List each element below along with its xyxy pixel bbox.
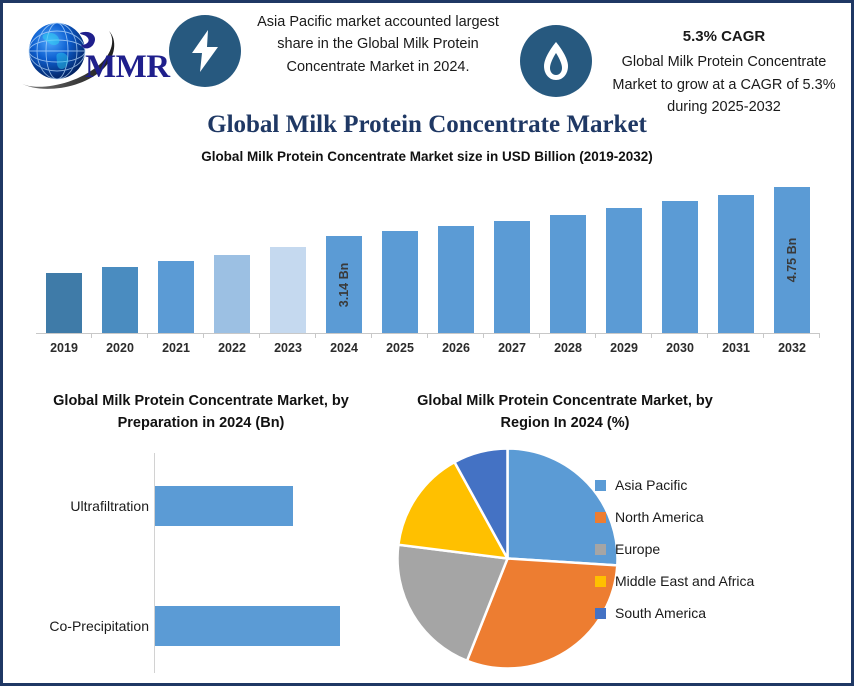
lightning-bolt-icon [188, 28, 222, 74]
legend-label: Middle East and Africa [615, 573, 754, 589]
axis-tick [36, 333, 92, 338]
legend-item: Europe [595, 533, 845, 565]
preparation-row: Ultrafiltration [11, 478, 391, 533]
bar [270, 247, 306, 333]
bar [214, 255, 250, 333]
x-axis-label: 2021 [148, 341, 204, 355]
bar-chart-title: Global Milk Protein Concentrate Market s… [3, 149, 851, 164]
x-axis-label: 2023 [260, 341, 316, 355]
preparation-bar-chart: Global Milk Protein Concentrate Market, … [11, 391, 391, 681]
preparation-bar [155, 606, 340, 646]
bar-columns: 3.14 Bn4.75 Bn [36, 173, 820, 333]
pie-legend: Asia PacificNorth AmericaEuropeMiddle Ea… [595, 469, 845, 629]
x-axis-label: 2019 [36, 341, 92, 355]
legend-swatch [595, 544, 606, 555]
flame-badge [520, 25, 592, 97]
bar-column [652, 173, 708, 333]
legend-swatch [595, 608, 606, 619]
cagr-headline: 5.3% CAGR [601, 25, 847, 48]
preparation-label: Co-Precipitation [11, 618, 149, 634]
axis-tick [204, 333, 260, 338]
bar-column [92, 173, 148, 333]
legend-swatch [595, 512, 606, 523]
axis-tick [764, 333, 820, 338]
bar-column [540, 173, 596, 333]
legend-item: North America [595, 501, 845, 533]
legend-label: Europe [615, 541, 660, 557]
bar-chart-x-labels: 2019202020212022202320242025202620272028… [36, 341, 820, 355]
pie-chart-title: Global Milk Protein Concentrate Market, … [395, 391, 735, 435]
bar-column [260, 173, 316, 333]
axis-tick [596, 333, 652, 338]
preparation-label: Ultrafiltration [11, 498, 149, 514]
bar [494, 221, 530, 333]
bar [46, 273, 82, 333]
x-axis-label: 2022 [204, 341, 260, 355]
bar: 3.14 Bn [326, 236, 362, 333]
legend-label: North America [615, 509, 704, 525]
axis-tick [148, 333, 204, 338]
legend-swatch [595, 480, 606, 491]
bar [102, 267, 138, 333]
bar-value-label: 3.14 Bn [337, 262, 351, 306]
legend-item: Asia Pacific [595, 469, 845, 501]
logo-text: MMR [85, 49, 170, 86]
x-axis-label: 2024 [316, 341, 372, 355]
bar [158, 261, 194, 333]
axis-tick [652, 333, 708, 338]
bar-chart-plot: 3.14 Bn4.75 Bn [36, 173, 820, 333]
bar-column [372, 173, 428, 333]
preparation-chart-plot: UltrafiltrationCo-Precipitation [11, 453, 391, 673]
bar-chart-ticks [36, 333, 820, 338]
axis-tick [372, 333, 428, 338]
preparation-row: Co-Precipitation [11, 598, 391, 653]
legend-swatch [595, 576, 606, 587]
bar-column: 3.14 Bn [316, 173, 372, 333]
x-axis-label: 2025 [372, 341, 428, 355]
right-stat-block: 5.3% CAGR Global Milk Protein Concentrat… [601, 25, 847, 119]
legend-item: South America [595, 597, 845, 629]
bar-column [484, 173, 540, 333]
right-stat-text: Global Milk Protein Concentrate Market t… [601, 51, 847, 118]
x-axis-label: 2031 [708, 341, 764, 355]
bar [662, 201, 698, 333]
legend-label: Asia Pacific [615, 477, 687, 493]
flame-drop-icon [541, 40, 571, 82]
market-size-bar-chart: Global Milk Protein Concentrate Market s… [3, 145, 851, 370]
bar-column [708, 173, 764, 333]
axis-tick [708, 333, 764, 338]
region-pie-chart: Global Milk Protein Concentrate Market, … [395, 391, 851, 683]
legend-item: Middle East and Africa [595, 565, 845, 597]
bar-column [428, 173, 484, 333]
mmr-logo: MMR [13, 17, 165, 95]
bar [382, 231, 418, 333]
axis-tick [92, 333, 148, 338]
left-stat-block: Asia Pacific market accounted largest sh… [253, 11, 503, 78]
preparation-bar [155, 486, 293, 526]
axis-tick [260, 333, 316, 338]
axis-tick [484, 333, 540, 338]
bar [718, 195, 754, 333]
bar-column [596, 173, 652, 333]
axis-tick [316, 333, 372, 338]
x-axis-label: 2020 [92, 341, 148, 355]
axis-tick [540, 333, 596, 338]
left-stat-text: Asia Pacific market accounted largest sh… [253, 11, 503, 78]
bar: 4.75 Bn [774, 187, 810, 333]
bar-column [204, 173, 260, 333]
page-title: Global Milk Protein Concentrate Market [3, 111, 851, 139]
bar-column: 4.75 Bn [764, 173, 820, 333]
bar [606, 208, 642, 333]
infographic-root: MMR Asia Pacific market accounted larges… [0, 0, 854, 686]
x-axis-label: 2032 [764, 341, 820, 355]
header: MMR Asia Pacific market accounted larges… [3, 3, 851, 111]
lightning-badge [169, 15, 241, 87]
pie-graphic [395, 446, 620, 671]
legend-label: South America [615, 605, 706, 621]
bar-column [148, 173, 204, 333]
axis-tick [428, 333, 484, 338]
x-axis-label: 2026 [428, 341, 484, 355]
bar-value-label: 4.75 Bn [785, 238, 799, 282]
preparation-chart-title: Global Milk Protein Concentrate Market, … [11, 391, 391, 435]
x-axis-label: 2027 [484, 341, 540, 355]
bar-column [36, 173, 92, 333]
x-axis-label: 2029 [596, 341, 652, 355]
x-axis-label: 2028 [540, 341, 596, 355]
bar [438, 226, 474, 333]
x-axis-label: 2030 [652, 341, 708, 355]
bar [550, 215, 586, 333]
